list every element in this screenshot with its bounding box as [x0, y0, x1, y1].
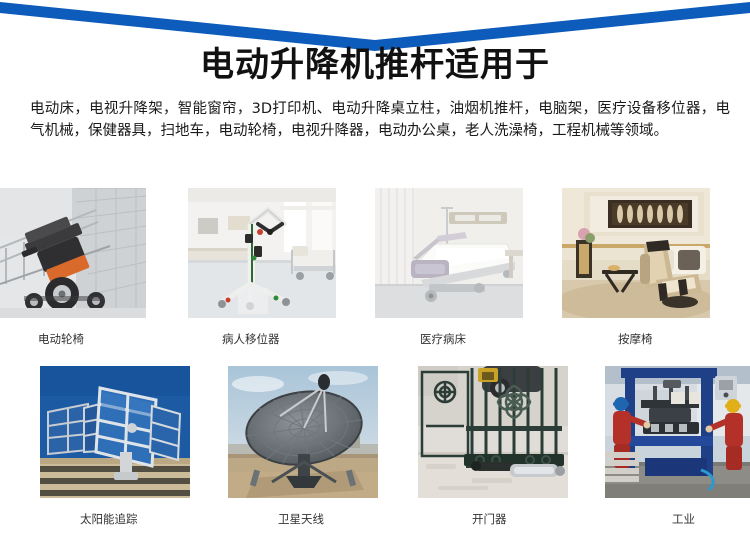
massage-chair-photo [562, 188, 710, 318]
gallery-item-caption: 工业 [672, 512, 750, 526]
gate-opener-photo [418, 366, 568, 498]
patient-lift-photo [188, 188, 336, 318]
solar-tracker-photo [40, 366, 190, 498]
industrial-machinery-photo [605, 366, 750, 498]
gallery-item-patient-lift[interactable]: 病人移位器 [188, 188, 336, 346]
gallery-item-solar-tracker[interactable]: 太阳能追踪 [40, 366, 190, 526]
product-detail-page: 电动升降机推杆适用于 电动床，电视升降架，智能窗帘，3D打印机、电动升降桌立柱，… [0, 0, 750, 546]
gallery-item-massage-chair[interactable]: 按摩椅 [562, 188, 710, 346]
gallery-item-electric-wheelchair[interactable]: 电动轮椅 [0, 188, 146, 346]
gallery-item-caption: 卫星天线 [278, 512, 378, 526]
intro-paragraph: 电动床，电视升降架，智能窗帘，3D打印机、电动升降桌立柱，油烟机推杆，电脑架，医… [30, 98, 730, 142]
hospital-bed-photo [375, 188, 523, 318]
gallery-item-industrial-machinery[interactable]: 工业 [605, 366, 750, 526]
gallery-item-caption: 电动轮椅 [38, 332, 146, 346]
gallery-item-caption: 病人移位器 [222, 332, 336, 346]
gallery-item-caption: 开门器 [472, 512, 568, 526]
gallery-item-satellite-dish[interactable]: 卫星天线 [228, 366, 378, 526]
satellite-dish-photo [228, 366, 378, 498]
electric-wheelchair-photo [0, 188, 146, 318]
page-title: 电动升降机推杆适用于 [0, 44, 750, 86]
gallery-item-caption: 按摩椅 [618, 332, 710, 346]
gallery-item-hospital-bed[interactable]: 医疗病床 [375, 188, 523, 346]
gallery-item-caption: 太阳能追踪 [80, 512, 190, 526]
application-gallery: 电动轮椅 [0, 188, 750, 544]
gallery-row: 电动轮椅 [0, 188, 750, 366]
gallery-item-gate-opener[interactable]: 开门器 [418, 366, 568, 526]
gallery-item-caption: 医疗病床 [420, 332, 523, 346]
gallery-row: 太阳能追踪 [0, 366, 750, 544]
